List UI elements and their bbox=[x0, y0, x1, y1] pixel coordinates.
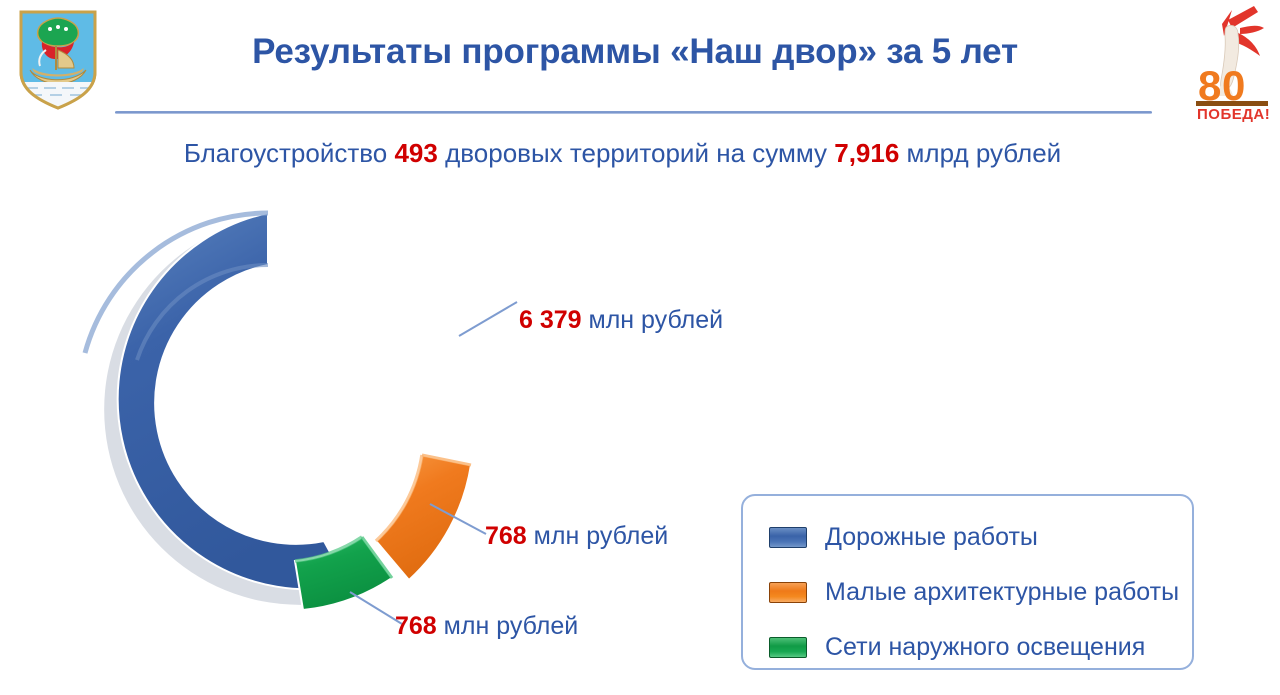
callout-unit-0: млн рублей bbox=[582, 306, 724, 334]
subtitle-text-3: млрд рублей bbox=[899, 138, 1061, 168]
legend-swatch-orange-icon bbox=[769, 582, 807, 603]
donut-chart bbox=[58, 193, 498, 623]
legend-swatch-blue-icon bbox=[769, 527, 807, 548]
callout-road-works: 6 379 млн рублей bbox=[519, 306, 723, 335]
subtitle-count: 493 bbox=[394, 138, 437, 168]
callout-unit-1: млн рублей bbox=[527, 522, 669, 550]
subtitle-text-1: Благоустройство bbox=[184, 138, 395, 168]
callout-small-architecture: 768 млн рублей bbox=[485, 522, 668, 551]
legend-swatch-green-icon bbox=[769, 637, 807, 658]
subtitle: Благоустройство 493 дворовых территорий … bbox=[0, 138, 1245, 169]
coat-of-arms-icon bbox=[16, 8, 100, 112]
subtitle-text-2: дворовых территорий на сумму bbox=[438, 138, 834, 168]
callout-street-lighting: 768 млн рублей bbox=[395, 612, 578, 641]
legend-label-small-architecture: Малые архитектурные работы bbox=[825, 578, 1179, 607]
pie-slice-road-works bbox=[85, 213, 348, 589]
legend-label-street-lighting: Сети наружного освещения bbox=[825, 633, 1145, 662]
callout-value-0: 6 379 bbox=[519, 306, 582, 334]
chart-legend: Дорожные работы Малые архитектурные рабо… bbox=[741, 494, 1194, 670]
pie-slice-small-architecture bbox=[376, 455, 471, 580]
title-divider bbox=[115, 111, 1152, 114]
subtitle-amount: 7,916 bbox=[834, 138, 899, 168]
svg-text:ПОБЕДА!: ПОБЕДА! bbox=[1197, 106, 1270, 123]
callout-value-2: 768 bbox=[395, 612, 437, 640]
legend-item-road-works[interactable]: Дорожные работы bbox=[769, 514, 1192, 560]
callout-value-1: 768 bbox=[485, 522, 527, 550]
legend-item-small-architecture[interactable]: Малые архитектурные работы bbox=[769, 569, 1192, 615]
page-title: Результаты программы «Наш двор» за 5 лет bbox=[115, 32, 1155, 72]
legend-item-street-lighting[interactable]: Сети наружного освещения bbox=[769, 624, 1192, 670]
legend-label-road-works: Дорожные работы bbox=[825, 523, 1038, 552]
callout-unit-2: млн рублей bbox=[437, 612, 579, 640]
victory-80-anniversary-icon: 8 0 ПОБЕДА! bbox=[1188, 2, 1280, 124]
